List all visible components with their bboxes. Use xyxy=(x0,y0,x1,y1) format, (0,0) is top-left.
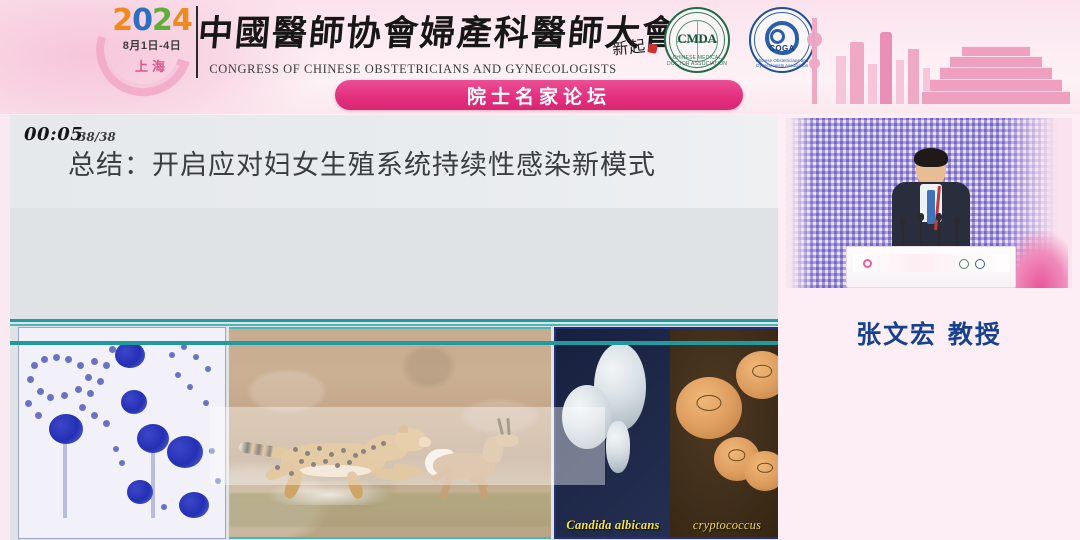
aspergillus-micrograph xyxy=(18,327,226,539)
slide-divider-line-2 xyxy=(10,324,778,326)
presentation-timer: 00:05 xyxy=(24,124,83,145)
presentation-slide[interactable]: 00:05 38/38 总结：开启应对妇女生殖系统持续性感染新模式 xyxy=(10,115,778,540)
event-year-block: 2024 8月1日-4日 上海 xyxy=(104,6,200,75)
speaker-name: 张文宏 教授 xyxy=(778,315,1080,351)
year-digit-2: 0 xyxy=(132,3,152,38)
cryptococcus-micrograph: cryptococcus xyxy=(670,329,778,537)
event-year: 2024 xyxy=(104,6,200,36)
year-digit-3: 2 xyxy=(152,3,172,38)
lectern xyxy=(846,246,1016,288)
forum-badge-label: 院士名家论坛 xyxy=(467,82,611,109)
backdrop-fade-left xyxy=(786,118,814,288)
speaker-tie xyxy=(927,190,935,224)
forum-badge[interactable]: 院士名家论坛 xyxy=(335,80,743,110)
congress-title-english: CONGRESS OF CHINESE OBSTETRICIANS AND GY… xyxy=(198,62,628,77)
slide-divider-line-1 xyxy=(10,319,778,322)
china-pavilion-icon xyxy=(922,44,1070,104)
event-city: 上海 xyxy=(104,56,200,75)
event-header-banner: 2024 8月1日-4日 上海 中國醫師协會婦產科醫師大會 新起 CONGRES… xyxy=(0,0,1080,114)
cmda-logo: CMDA CHINESE MEDICAL DOCTOR ASSOCIATION xyxy=(664,7,730,73)
slide-divider-line-3 xyxy=(10,341,778,345)
candida-label: Candida albicans xyxy=(556,518,670,533)
speaker-live-video[interactable] xyxy=(786,118,1072,288)
slide-counter: 38/38 xyxy=(78,130,116,144)
seal-stamp-icon xyxy=(647,43,658,54)
broadcast-screen: 2024 8月1日-4日 上海 中國醫師协會婦產科醫師大會 新起 CONGRES… xyxy=(0,0,1080,540)
congress-title-suffix: 新起 xyxy=(611,32,647,59)
oriental-pearl-tower-icon xyxy=(812,18,817,104)
speaker-hair xyxy=(914,148,948,167)
event-dates: 8月1日-4日 xyxy=(104,37,200,53)
cryptococcus-label: cryptococcus xyxy=(670,518,778,533)
slide-left-margin xyxy=(0,115,10,540)
slide-title: 总结：开启应对妇女生殖系统持续性感染新模式 xyxy=(68,143,768,182)
cmda-logo-text: CMDA xyxy=(664,31,730,47)
year-digit-1: 2 xyxy=(112,3,132,38)
cmda-logo-subtext: CHINESE MEDICAL DOCTOR ASSOCIATION xyxy=(664,55,730,67)
speaker-panel: 张文宏 教授 xyxy=(778,115,1080,540)
lectern-banner xyxy=(853,254,1009,272)
congress-title-chinese: 中國醫師协會婦產科醫師大會 xyxy=(196,8,621,60)
shanghai-skyline-graphic xyxy=(780,0,1080,104)
slide-content-placeholder xyxy=(210,407,605,485)
year-digit-4: 4 xyxy=(172,3,192,38)
